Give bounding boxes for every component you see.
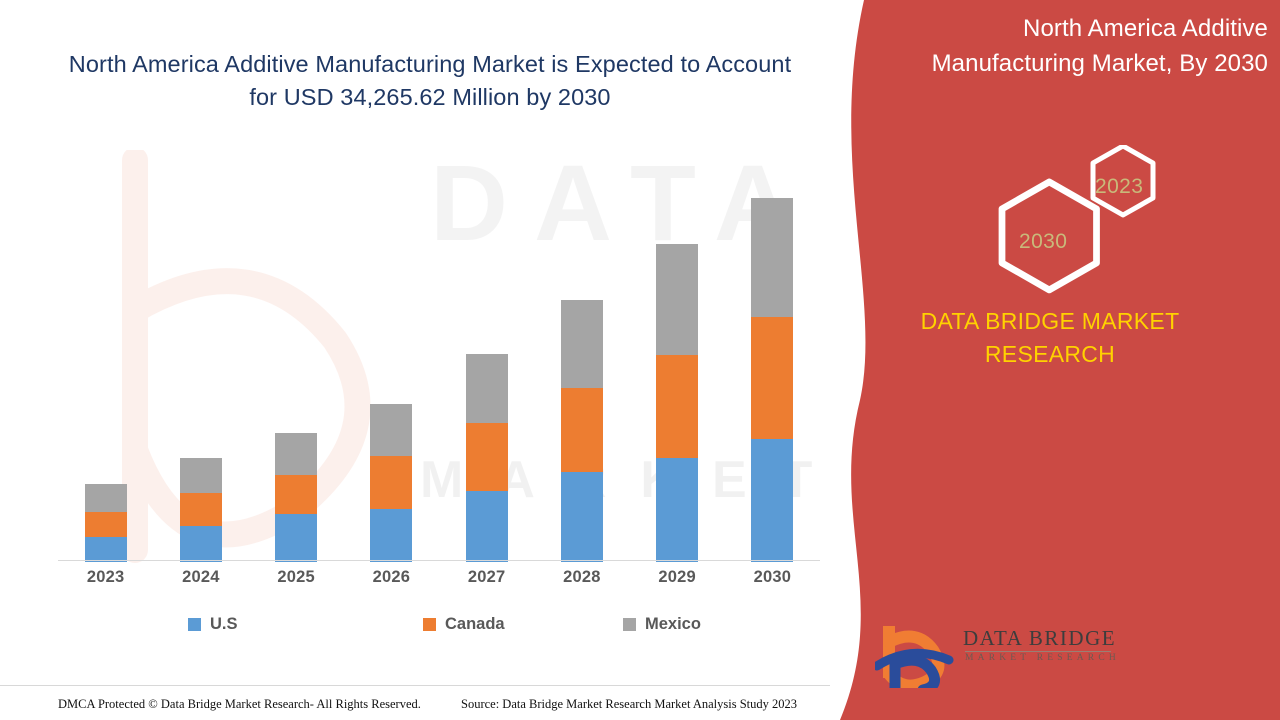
bar-segment-mexico (180, 458, 222, 493)
x-axis-line (58, 560, 820, 561)
bar-group (370, 404, 412, 562)
infographic-canvas: DATA BRIDGE MARKET RESEARCH North Americ… (0, 0, 1280, 720)
data-bridge-logo-icon (875, 620, 965, 688)
bar-segment-canada (751, 317, 793, 438)
footer-source: Source: Data Bridge Market Research Mark… (461, 697, 797, 712)
x-axis-label: 2024 (161, 568, 241, 587)
bar-group (561, 300, 603, 562)
x-axis-label: 2029 (637, 568, 717, 587)
bar-group (656, 244, 698, 562)
brand-panel: North America Additive Manufacturing Mar… (820, 0, 1280, 720)
bar-segment-us (275, 514, 317, 563)
legend-item-mexico[interactable]: Mexico (623, 615, 701, 634)
brand-name: DATA BRIDGE MARKET RESEARCH (840, 305, 1260, 370)
legend-item-us[interactable]: U.S (188, 615, 238, 634)
legend-swatch-icon (623, 618, 636, 631)
bar-segment-canada (180, 493, 222, 525)
legend-label: Mexico (645, 615, 701, 634)
bar-segment-us (561, 472, 603, 562)
bar-group (275, 433, 317, 562)
bar-segment-canada (561, 388, 603, 472)
legend-swatch-icon (188, 618, 201, 631)
bar-segment-us (751, 439, 793, 562)
hexagon-label-2030: 2030 (1019, 230, 1067, 254)
bar-segment-mexico (275, 433, 317, 475)
bar-segment-mexico (561, 300, 603, 388)
hexagon-outlines-icon (975, 145, 1195, 305)
bar-segment-us (656, 458, 698, 562)
legend-label: Canada (445, 615, 505, 634)
x-axis-labels: 20232024202520262027202820292030 (58, 568, 820, 596)
brand-line-2: RESEARCH (840, 338, 1260, 371)
bar-group (466, 354, 508, 562)
bar-segment-us (466, 491, 508, 562)
bar-group (180, 458, 222, 562)
x-axis-label: 2028 (542, 568, 622, 587)
panel-title: North America Additive Manufacturing Mar… (868, 12, 1268, 82)
chart-legend: U.SCanadaMexico (58, 615, 820, 645)
bar-group (751, 198, 793, 562)
footer-divider (0, 685, 830, 686)
bar-segment-mexico (466, 354, 508, 423)
bar-segment-mexico (85, 484, 127, 511)
bar-segment-us (370, 509, 412, 562)
brand-line-1: DATA BRIDGE MARKET (840, 305, 1260, 338)
bar-segment-us (180, 526, 222, 562)
bar-segment-canada (370, 456, 412, 510)
legend-label: U.S (210, 615, 238, 634)
hexagon-label-2023: 2023 (1095, 175, 1143, 199)
legend-swatch-icon (423, 618, 436, 631)
bar-segment-mexico (370, 404, 412, 456)
bar-segment-canada (85, 512, 127, 537)
x-axis-label: 2023 (66, 568, 146, 587)
company-logo: DATA BRIDGE MARKET RESEARCH (875, 620, 1105, 690)
x-axis-label: 2025 (256, 568, 336, 587)
x-axis-label: 2027 (447, 568, 527, 587)
bar-segment-us (85, 537, 127, 562)
logo-wordmark: DATA BRIDGE (963, 626, 1116, 651)
footer-copyright: DMCA Protected © Data Bridge Market Rese… (58, 697, 421, 712)
stacked-bar-chart: 20232024202520262027202820292030 U.SCana… (0, 0, 860, 660)
bar-segment-mexico (751, 198, 793, 317)
logo-tagline: MARKET RESEARCH (965, 653, 1120, 663)
logo-divider (965, 651, 1111, 652)
bar-segment-canada (275, 475, 317, 513)
chart-plot-area (58, 180, 820, 562)
bar-segment-canada (466, 423, 508, 492)
x-axis-label: 2030 (732, 568, 812, 587)
bar-segment-canada (656, 355, 698, 458)
x-axis-label: 2026 (351, 568, 431, 587)
bar-group (85, 484, 127, 562)
bar-segment-mexico (656, 244, 698, 355)
legend-item-canada[interactable]: Canada (423, 615, 505, 634)
hexagon-badges: 2023 2030 (975, 145, 1195, 305)
